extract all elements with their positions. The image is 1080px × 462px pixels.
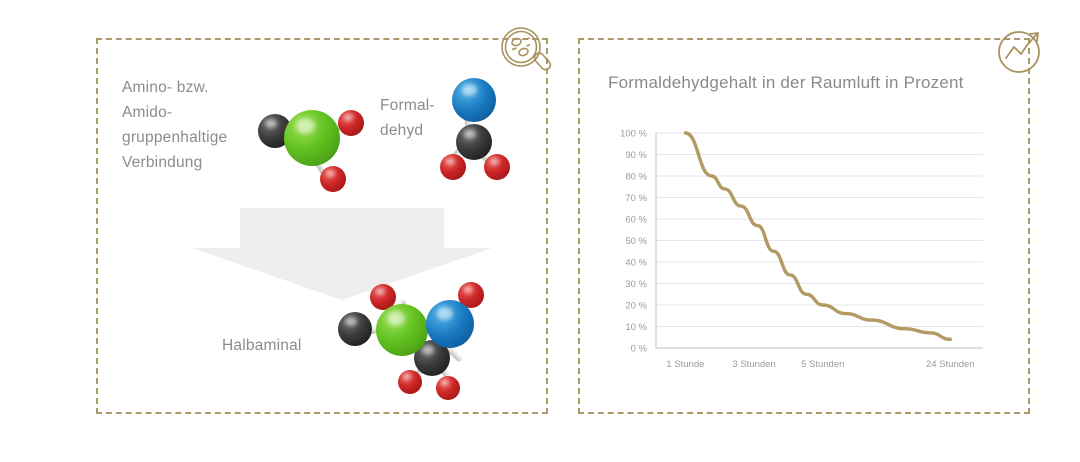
- y-axis-tick-label: 50 %: [625, 236, 647, 247]
- gridlines: [656, 133, 983, 348]
- y-axis-tick-label: 70 %: [625, 193, 647, 204]
- carbon-atom: [338, 312, 372, 346]
- carbon-atom: [456, 124, 492, 160]
- trend-chart-icon: [990, 22, 1052, 84]
- halbaminal-molecule: [330, 278, 510, 398]
- x-axis-tick-labels: 1 Stunde3 Stunden5 Stunden24 Stunden: [666, 359, 974, 370]
- data-curve: [685, 133, 950, 339]
- oxygen-atom: [436, 376, 460, 400]
- magnifier-germ-icon: [496, 22, 558, 84]
- formaldehyde-molecule: [440, 76, 524, 186]
- y-axis-tick-label: 30 %: [625, 279, 647, 290]
- y-axis-tick-label: 90 %: [625, 150, 647, 161]
- oxygen-atom: [452, 78, 496, 122]
- nitrogen-atom: [284, 110, 340, 166]
- oxygen-atom: [338, 110, 364, 136]
- y-axis-tick-labels: 100 %90 %80 %70 %60 %50 %40 %30 %20 %10 …: [620, 129, 647, 355]
- y-axis-tick-label: 20 %: [625, 301, 647, 312]
- oxygen-atom: [398, 370, 422, 394]
- x-axis-tick-label: 5 Stunden: [801, 359, 844, 370]
- x-axis-tick-label: 1 Stunde: [666, 359, 704, 370]
- y-axis-tick-label: 40 %: [625, 258, 647, 269]
- amino-compound-molecule: [240, 88, 370, 196]
- y-axis-tick-label: 80 %: [625, 172, 647, 183]
- oxygen-atom: [320, 166, 346, 192]
- x-axis-tick-label: 24 Stunden: [926, 359, 975, 370]
- hydroxyl-atom: [440, 154, 466, 180]
- hydroxyl-atom: [484, 154, 510, 180]
- x-axis-tick-label: 3 Stunden: [732, 359, 775, 370]
- y-axis-tick-label: 60 %: [625, 215, 647, 226]
- y-axis-tick-label: 100 %: [620, 129, 647, 140]
- formaldehyde-decay-chart: 100 %90 %80 %70 %60 %50 %40 %30 %20 %10 …: [600, 120, 1000, 380]
- oxygen-atom: [426, 300, 474, 348]
- y-axis-tick-label: 0 %: [631, 344, 648, 355]
- nitrogen-atom: [376, 304, 428, 356]
- chart-title: Formaldehydgehalt in der Raumluft in Pro…: [608, 73, 964, 93]
- y-axis-tick-label: 10 %: [625, 322, 647, 333]
- chart-svg: 100 %90 %80 %70 %60 %50 %40 %30 %20 %10 …: [600, 120, 1000, 380]
